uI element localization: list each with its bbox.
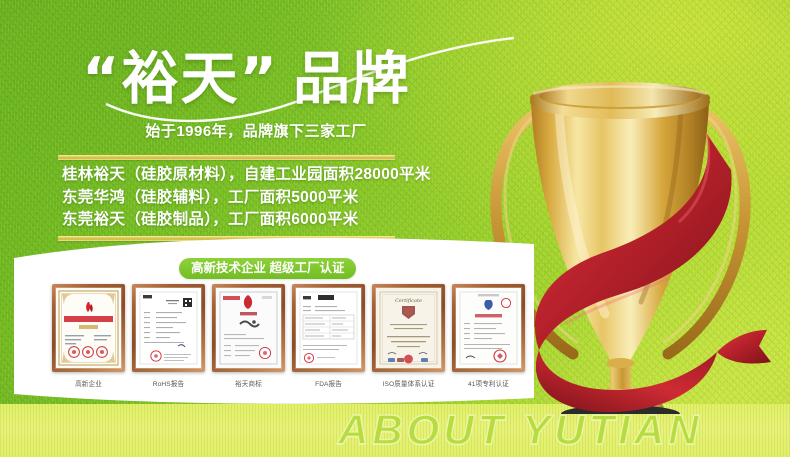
page-title: “裕天”品牌 — [82, 46, 412, 112]
divider-top — [58, 155, 395, 160]
certificate-frame-iso[interactable]: Certificate — [372, 284, 445, 372]
list-item[interactable]: FDA报告 — [292, 284, 365, 394]
quote-close: ” — [239, 46, 278, 112]
list-item[interactable]: 41项专利认证 — [452, 284, 525, 394]
certificate-list: 高新企业 — [52, 284, 522, 394]
company-info-line: 东莞华鸿（硅胶辅料），工厂面积5000平米 — [62, 187, 422, 210]
certificate-caption: ISO质量体系认证 — [372, 378, 445, 388]
svg-text:Certificate: Certificate — [395, 298, 422, 304]
quote-open: “ — [82, 46, 121, 112]
watermark-text: ABOUT YUTIAN — [338, 404, 703, 457]
company-info-block: 桂林裕天（硅胶原材料），自建工业园面积28000平米 东莞华鸿（硅胶辅料），工厂… — [62, 164, 422, 232]
certificate-caption: 高新企业 — [52, 378, 125, 388]
certificate-caption: RoHS报告 — [132, 378, 205, 388]
title-suffix: 品牌 — [293, 47, 411, 111]
list-item[interactable]: 裕天商标 — [212, 284, 285, 394]
certificate-caption: 裕天商标 — [212, 378, 285, 388]
certificate-frame-high-tech[interactable] — [52, 284, 125, 372]
list-item[interactable]: RoHS报告 — [132, 284, 205, 394]
certificate-caption: 41项专利认证 — [452, 378, 525, 388]
certificate-frame-rohs[interactable] — [132, 284, 205, 372]
certificate-frame-patent[interactable] — [452, 284, 525, 372]
list-item[interactable]: Certificate — [372, 284, 445, 394]
list-item[interactable]: 高新企业 — [52, 284, 125, 394]
brand-name: 裕天 — [121, 47, 239, 111]
company-info-line: 桂林裕天（硅胶原材料），自建工业园面积28000平米 — [62, 164, 422, 187]
page-subtitle: 始于1996年，品牌旗下三家工厂 — [96, 120, 416, 141]
certificate-caption: FDA报告 — [292, 378, 365, 388]
status-badge: 高新技术企业 超级工厂认证 — [179, 258, 356, 279]
certificate-frame-fda[interactable] — [292, 284, 365, 372]
company-info-line: 东莞裕天（硅胶制品），工厂面积6000平米 — [62, 209, 422, 232]
certificate-frame-trademark[interactable] — [212, 284, 285, 372]
about-us-banner: “裕天”品牌 始于1996年，品牌旗下三家工厂 桂林裕天（硅胶原材料），自建工业… — [0, 0, 790, 457]
